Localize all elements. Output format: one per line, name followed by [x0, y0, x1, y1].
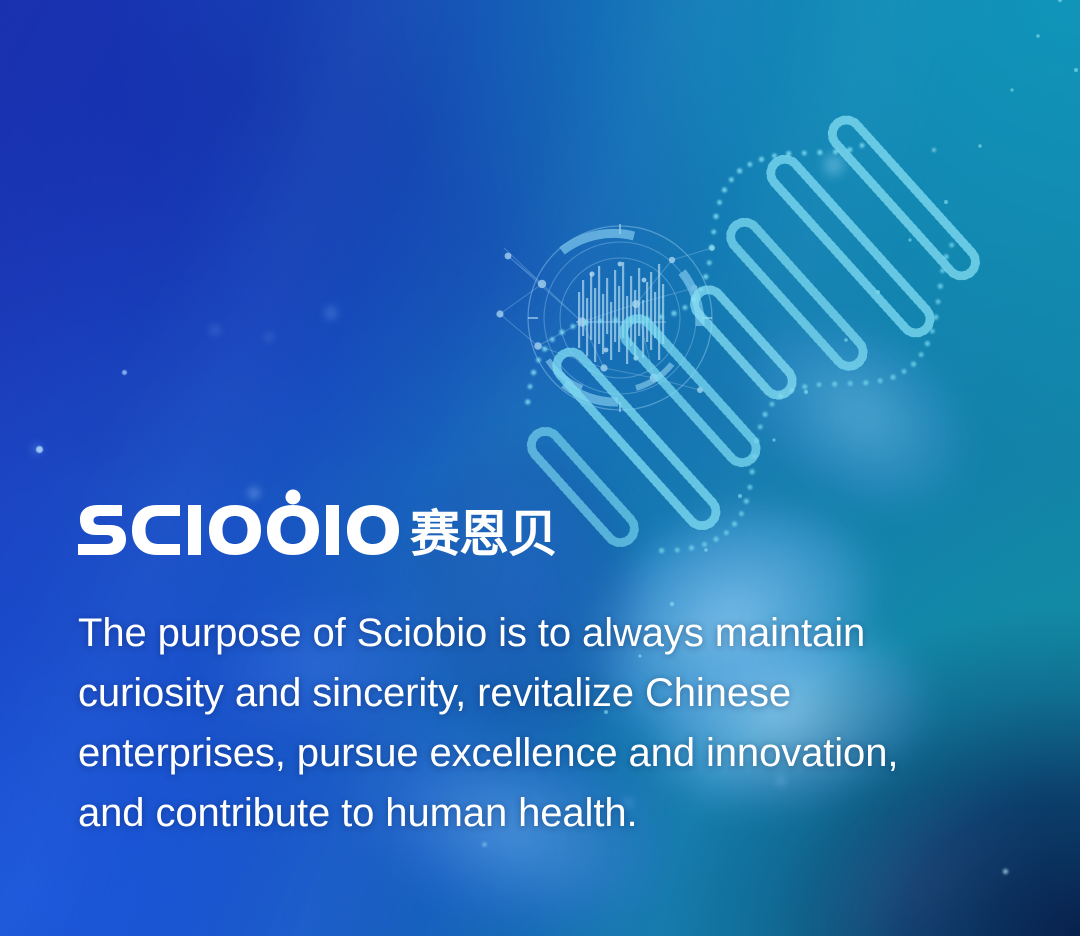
logo-chinese-wordmark: 赛恩贝: [410, 505, 557, 563]
logo-latin-wordmark: [78, 490, 399, 556]
brand-logo[interactable]: 赛恩贝: [76, 503, 516, 565]
tagline-text: The purpose of Sciobio is to always main…: [78, 603, 978, 843]
content-layer: 赛恩贝 The purpose of Sciobio is to always …: [0, 0, 1080, 936]
brand-banner: 赛恩贝 The purpose of Sciobio is to always …: [0, 0, 1080, 936]
svg-text:赛恩贝: 赛恩贝: [410, 505, 557, 563]
logo-accent-dot: [286, 490, 301, 505]
